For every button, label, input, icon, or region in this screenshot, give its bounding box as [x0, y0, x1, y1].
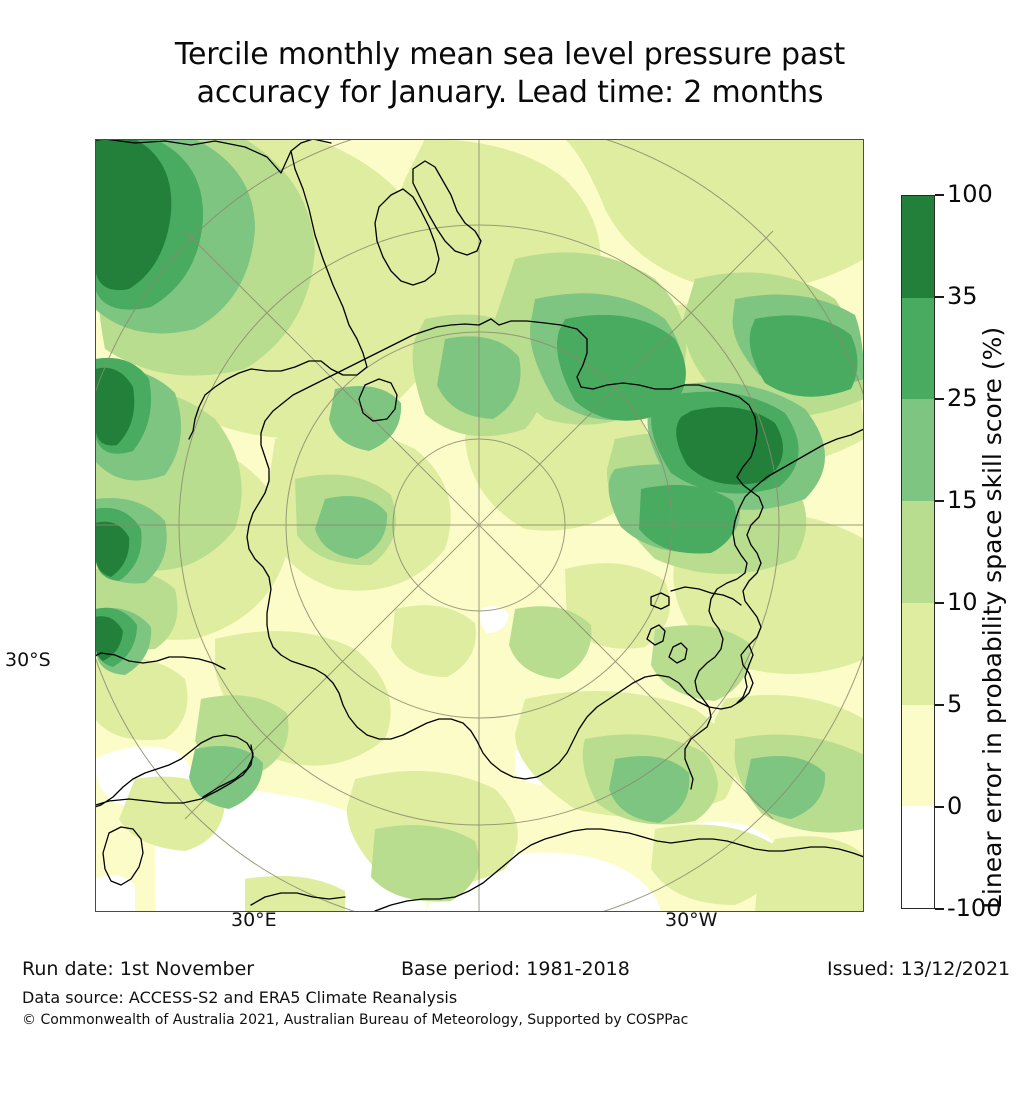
colorbar-title: Linear error in probability space skill …: [978, 327, 1007, 909]
colorbar-band-35-100: [902, 196, 934, 298]
base-period: Base period: 1981-2018: [401, 958, 630, 980]
colorbar-band-5-10: [902, 603, 934, 705]
page-title: Tercile monthly mean sea level pressure …: [0, 36, 1020, 112]
footer-row-primary: Run date: 1st November Base period: 1981…: [0, 958, 1020, 988]
copyright: © Commonwealth of Australia 2021, Austra…: [22, 1012, 688, 1028]
tick-mark: [935, 398, 944, 400]
lat-label-30s: 30°S: [5, 649, 51, 671]
data-source: Data source: ACCESS-S2 and ERA5 Climate …: [22, 988, 457, 1007]
footer: Run date: 1st November Base period: 1981…: [0, 958, 1020, 988]
title-line-2: accuracy for January. Lead time: 2 month…: [0, 74, 1020, 112]
colorbar[interactable]: 100 35 25 15 10 5 0 -100: [901, 195, 935, 909]
tick-mark: [935, 806, 944, 808]
colorbar-title-wrap: Linear error in probability space skill …: [978, 909, 1020, 938]
colorbar-band-0-5: [902, 705, 934, 807]
colorbar-band-n100-0: [902, 806, 934, 908]
tick-mark: [935, 704, 944, 706]
skill-score-map: [95, 139, 864, 912]
lon-label-30w: 30°W: [665, 909, 717, 931]
lon-label-30e: 30°E: [231, 909, 277, 931]
tick-mark: [935, 194, 944, 196]
colorbar-band-25-35: [902, 298, 934, 400]
tick-mark: [935, 500, 944, 502]
colorbar-gradient: [901, 195, 935, 909]
title-line-1: Tercile monthly mean sea level pressure …: [0, 36, 1020, 74]
run-date: Run date: 1st November: [22, 958, 254, 980]
map-figure: 30°S 30°E 30°W: [95, 139, 864, 912]
tick-mark: [935, 296, 944, 298]
colorbar-band-10-15: [902, 501, 934, 603]
tick-mark: [935, 908, 944, 910]
tick-mark: [935, 602, 944, 604]
issued-date: Issued: 13/12/2021: [827, 958, 1010, 980]
colorbar-band-15-25: [902, 399, 934, 501]
map-canvas[interactable]: [95, 139, 864, 912]
